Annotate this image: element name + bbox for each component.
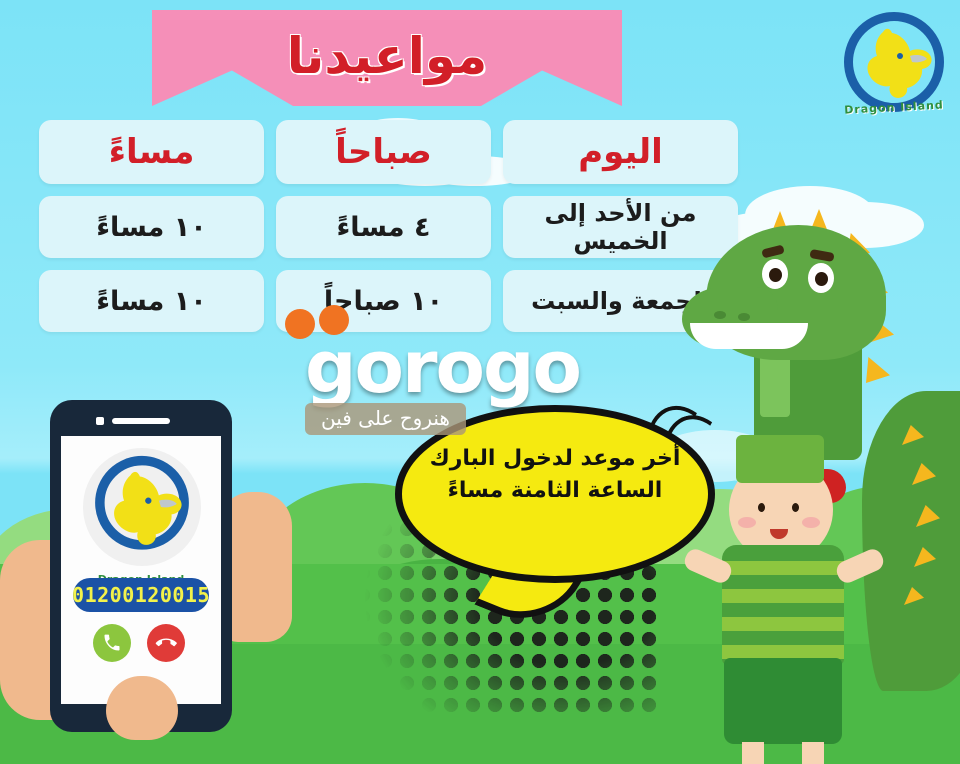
dragon-head-icon [83, 448, 201, 566]
cell-evening: ١٠ مساءً [39, 196, 264, 258]
boy-shorts [724, 658, 842, 744]
table-row: من الأحد إلى الخميس ٤ مساءً ١٠ مساءً [38, 196, 738, 258]
boy-eye [758, 503, 765, 512]
dragon-pupil [769, 268, 782, 282]
phone-number[interactable]: 01200120015 [73, 578, 209, 612]
boy-dragon-hat [736, 435, 824, 483]
phone-camera [96, 417, 104, 425]
dragon-island-logo[interactable]: Dragon Island [838, 6, 950, 118]
table-header-row: اليوم صباحاً مساءً [38, 120, 738, 184]
dragon-pupil [815, 272, 828, 286]
boy-eye [792, 503, 799, 512]
table-row: الجمعة والسبت ١٠ صباحاً ١٠ مساءً [38, 270, 738, 332]
dragon-nostril [714, 311, 726, 319]
watermark-tagline: هنروح على فين [305, 403, 466, 435]
phone-answer-icon[interactable] [93, 624, 131, 662]
dragon-mouth [690, 323, 808, 349]
phone-illustration: Dragon Island 01200120015 [50, 400, 232, 740]
header-evening: مساءً [39, 120, 264, 184]
phone-answer-glyph [102, 633, 122, 653]
banner: مواعيدنا [152, 8, 622, 108]
dragon-spike [866, 357, 890, 383]
dragon-nostril [738, 313, 750, 321]
hand-thumb [106, 676, 178, 740]
schedule-table: اليوم صباحاً مساءً من الأحد إلى الخميس ٤… [38, 120, 738, 344]
phone-screen[interactable]: Dragon Island 01200120015 [61, 436, 221, 704]
phone-speaker [112, 418, 170, 424]
shirt-stripe [722, 645, 844, 659]
cell-morning: ٤ مساءً [276, 196, 491, 258]
shirt-stripe [722, 561, 844, 575]
banner-title: مواعيدنا [152, 8, 622, 104]
watermark-dot [285, 309, 315, 339]
shirt-stripe [722, 589, 844, 603]
shirt-stripe [722, 617, 844, 631]
boy-leg [802, 742, 824, 764]
boy-cheek [802, 517, 820, 528]
cell-evening: ١٠ مساءً [39, 270, 264, 332]
boy-leg [742, 742, 764, 764]
header-day: اليوم [503, 120, 738, 184]
watermark-word: gorogo [305, 333, 655, 401]
phone-decline-icon[interactable] [147, 624, 185, 662]
watermark: gorogo هنروح على فين [305, 333, 655, 443]
boy-cheek [738, 517, 756, 528]
watermark-dot [319, 305, 349, 335]
poster-canvas: مواعيدنا Dragon Island اليوم صباحاً مساء… [0, 0, 960, 764]
phone-decline-glyph [152, 629, 180, 657]
header-morning: صباحاً [276, 120, 491, 184]
